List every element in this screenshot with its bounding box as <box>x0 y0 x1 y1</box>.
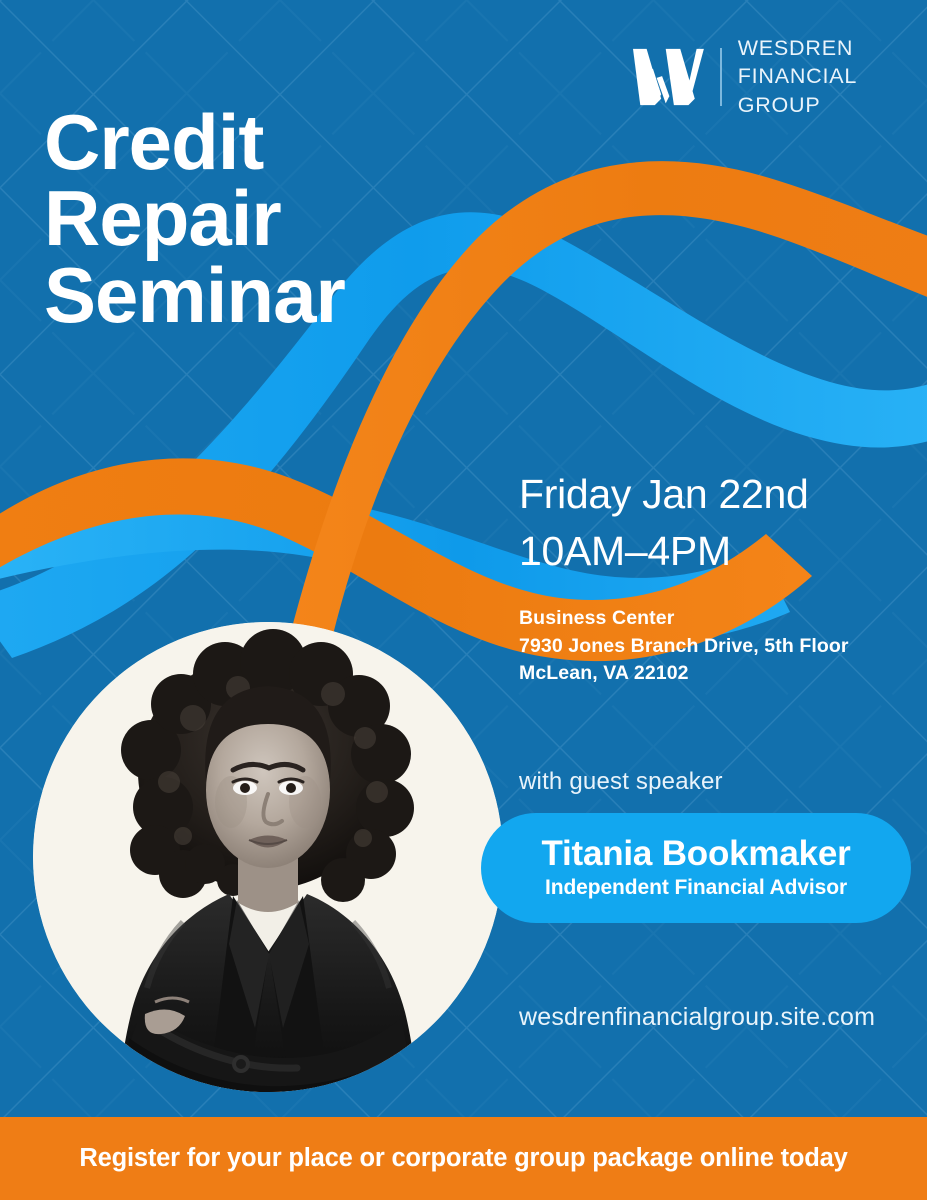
website-url[interactable]: wesdrenfinancialgroup.site.com <box>519 1003 875 1032</box>
wesdren-w-monogram-icon <box>633 46 704 108</box>
logo-line-1: WESDREN <box>738 34 927 62</box>
city-state-zip: McLean, VA 22102 <box>519 660 849 688</box>
speaker-portrait <box>33 622 503 1092</box>
speaker-name-badge: Titania Bookmaker Independent Financial … <box>481 813 911 923</box>
guest-speaker-intro: with guest speaker <box>519 768 723 796</box>
event-address: Business Center 7930 Jones Branch Drive,… <box>519 605 849 688</box>
registration-banner[interactable]: Register for your place or corporate gro… <box>0 1117 927 1200</box>
event-date: Friday Jan 22nd <box>519 466 809 523</box>
title-line-3: Seminar <box>44 257 345 333</box>
event-time: 10AM–4PM <box>519 523 809 580</box>
brand-logo: WESDREN FINANCIAL GROUP <box>633 34 927 119</box>
event-datetime: Friday Jan 22nd 10AM–4PM <box>519 466 809 579</box>
logo-line-2: FINANCIAL GROUP <box>738 62 927 119</box>
title-line-2: Repair <box>44 180 345 256</box>
venue-name: Business Center <box>519 605 849 633</box>
portrait-disc <box>33 622 503 1092</box>
street-address: 7930 Jones Branch Drive, 5th Floor <box>519 633 849 661</box>
speaker-name: Titania Bookmaker <box>541 834 850 873</box>
speaker-role: Independent Financial Advisor <box>545 875 847 900</box>
logo-divider <box>720 48 722 106</box>
registration-banner-text: Register for your place or corporate gro… <box>79 1144 847 1173</box>
portrait-illustration <box>33 622 503 1092</box>
poster-canvas: WESDREN FINANCIAL GROUP Credit Repair Se… <box>0 0 927 1200</box>
logo-wordmark: WESDREN FINANCIAL GROUP <box>738 34 927 119</box>
title-line-1: Credit <box>44 104 345 180</box>
page-title: Credit Repair Seminar <box>44 104 345 333</box>
